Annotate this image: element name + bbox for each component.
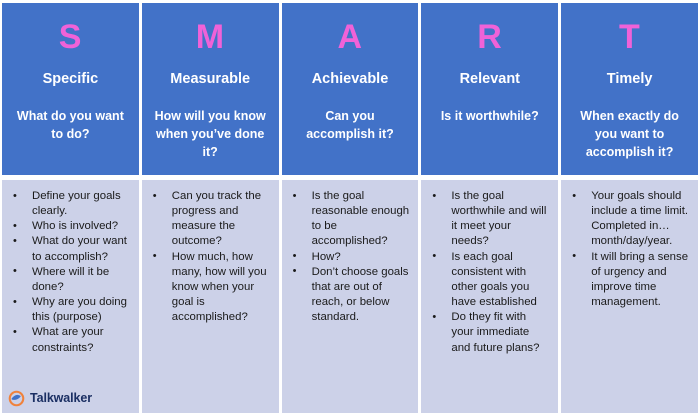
smart-word-measurable: Measurable [170, 71, 250, 88]
talkwalker-logo: Talkwalker [8, 390, 92, 407]
list-item: Where will it be done? [6, 265, 132, 295]
smart-question-measurable: How will you know when you’ve done it? [148, 107, 273, 161]
smart-column-specific: S Specific What do you want to do? Defin… [2, 3, 139, 413]
talkwalker-logo-icon [8, 390, 25, 407]
column-body-specific: Define your goals clearly. Who is involv… [2, 180, 139, 413]
list-item: What are your constraints? [6, 325, 132, 355]
smart-letter-m: M [196, 20, 225, 54]
list-item: Who is involved? [6, 219, 132, 234]
smart-column-achievable: A Achievable Can you accomplish it? Is t… [282, 3, 419, 413]
smart-question-specific: What do you want to do? [8, 107, 133, 143]
list-item: Why are you doing this (purpose) [6, 295, 132, 325]
column-header-relevant: R Relevant Is it worthwhile? [421, 3, 558, 175]
smart-letter-a: A [337, 20, 362, 54]
smart-letter-t: T [619, 20, 640, 54]
list-item: How? [286, 250, 412, 265]
list-item: Is the goal reasonable enough to be acco… [286, 189, 412, 250]
list-item: How much, how many, how will you know wh… [146, 250, 272, 326]
smart-goals-table: S Specific What do you want to do? Defin… [0, 0, 700, 413]
list-item: Is each goal consistent with other goals… [425, 250, 551, 311]
smart-word-timely: Timely [607, 71, 653, 88]
smart-column-relevant: R Relevant Is it worthwhile? Is the goal… [421, 3, 558, 413]
smart-letter-r: R [477, 20, 502, 54]
list-item: Don’t choose goals that are out of reach… [286, 265, 412, 326]
column-header-measurable: M Measurable How will you know when you’… [142, 3, 279, 175]
list-item: It will bring a sense of urgency and imp… [565, 250, 691, 311]
smart-column-measurable: M Measurable How will you know when you’… [142, 3, 279, 413]
bullet-list-achievable: Is the goal reasonable enough to be acco… [286, 189, 412, 325]
smart-word-relevant: Relevant [460, 71, 520, 88]
list-item: Can you track the progress and measure t… [146, 189, 272, 250]
column-header-achievable: A Achievable Can you accomplish it? [282, 3, 419, 175]
list-item: Is the goal worthwhile and will it meet … [425, 189, 551, 250]
list-item: Do they fit with your immediate and futu… [425, 310, 551, 355]
smart-question-timely: When exactly do you want to accomplish i… [567, 107, 692, 161]
bullet-list-timely: Your goals should include a time limit. … [565, 189, 691, 310]
column-header-specific: S Specific What do you want to do? [2, 3, 139, 175]
smart-word-achievable: Achievable [312, 71, 389, 88]
column-body-achievable: Is the goal reasonable enough to be acco… [282, 180, 419, 413]
list-item: What do your want to accomplish? [6, 234, 132, 264]
smart-letter-s: S [59, 20, 82, 54]
smart-question-relevant: Is it worthwhile? [438, 107, 542, 125]
column-body-relevant: Is the goal worthwhile and will it meet … [421, 180, 558, 413]
bullet-list-measurable: Can you track the progress and measure t… [146, 189, 272, 325]
talkwalker-wordmark: Talkwalker [30, 392, 92, 405]
column-body-measurable: Can you track the progress and measure t… [142, 180, 279, 413]
bullet-list-relevant: Is the goal worthwhile and will it meet … [425, 189, 551, 356]
smart-question-achievable: Can you accomplish it? [288, 107, 413, 143]
bullet-list-specific: Define your goals clearly. Who is involv… [6, 189, 132, 356]
smart-word-specific: Specific [43, 71, 99, 88]
list-item: Define your goals clearly. [6, 189, 132, 219]
smart-column-timely: T Timely When exactly do you want to acc… [561, 3, 698, 413]
column-body-timely: Your goals should include a time limit. … [561, 180, 698, 413]
list-item: Your goals should include a time limit. … [565, 189, 691, 250]
column-header-timely: T Timely When exactly do you want to acc… [561, 3, 698, 175]
